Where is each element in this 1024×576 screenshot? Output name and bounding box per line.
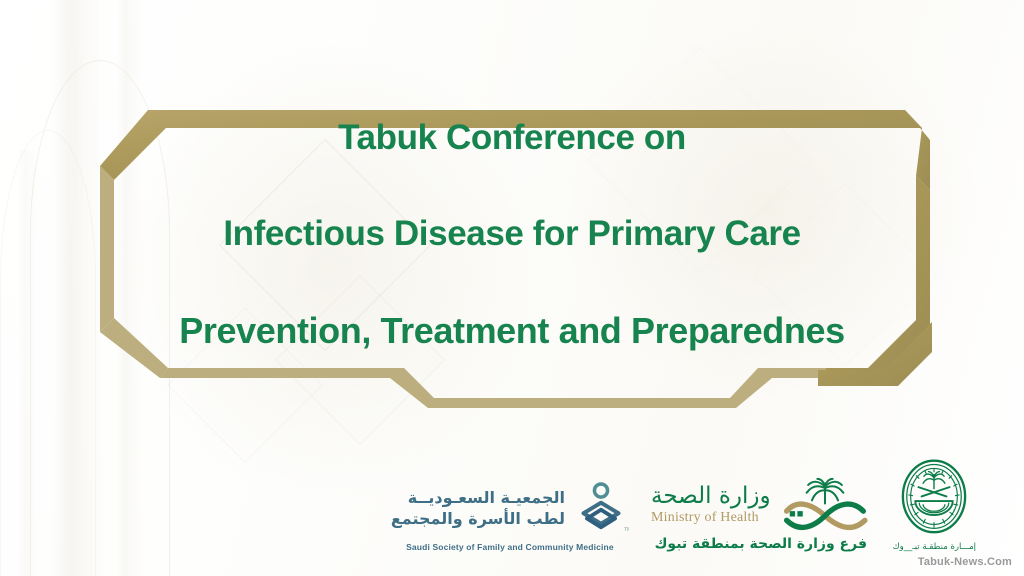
frame-left-edge bbox=[100, 166, 114, 332]
title-line-1: Tabuk Conference on bbox=[338, 120, 686, 157]
frame-bottom-tab bbox=[390, 368, 772, 408]
frame-bottom-left-line bbox=[160, 368, 390, 378]
title-line-3: Prevention, Treatment and Preparednes bbox=[179, 312, 844, 350]
moh-arabic-name: وزارة الصحة bbox=[651, 484, 771, 509]
ssfcm-arabic-line-1: الجمعيـة السعـوديــة bbox=[391, 487, 565, 508]
moh-english-name: Ministry of Health bbox=[651, 510, 771, 526]
frame-bottom-right-line bbox=[772, 368, 826, 378]
person-layers-icon: TM bbox=[573, 480, 629, 536]
logo-ministry-of-health: وزارة الصحة Ministry of Health bbox=[651, 477, 871, 552]
site-watermark: Tabuk-News.Com bbox=[918, 556, 1012, 568]
logo-tabuk-emirate: إمـــارة منطقـة تبـ__وك bbox=[893, 456, 976, 552]
title-line-2: Infectious Disease for Primary Care bbox=[223, 216, 800, 253]
moh-branch-name: فرع وزارة الصحة بمنطقة تبوك bbox=[655, 536, 867, 552]
sponsor-logo-strip: الجمعيـة السعـوديــة لطب الأسرة والمجتمع… bbox=[0, 442, 1024, 552]
conference-title-block: Tabuk Conference on Infectious Disease f… bbox=[130, 120, 894, 350]
ssfcm-english-name: Saudi Society of Family and Community Me… bbox=[391, 542, 629, 552]
saudi-emirate-emblem-icon bbox=[895, 456, 973, 540]
ssfcm-arabic-name: الجمعيـة السعـوديــة لطب الأسرة والمجتمع bbox=[391, 487, 565, 529]
tabuk-emirate-caption: إمـــارة منطقـة تبـ__وك bbox=[893, 542, 976, 552]
conference-banner-slide: Tabuk Conference on Infectious Disease f… bbox=[0, 0, 1024, 576]
svg-text:TM: TM bbox=[624, 527, 629, 533]
palm-tree-ribbons-icon bbox=[779, 477, 871, 533]
logo-saudi-society-family-community-medicine: الجمعيـة السعـوديــة لطب الأسرة والمجتمع… bbox=[391, 480, 629, 552]
ssfcm-arabic-line-2: لطب الأسرة والمجتمع bbox=[391, 508, 565, 529]
